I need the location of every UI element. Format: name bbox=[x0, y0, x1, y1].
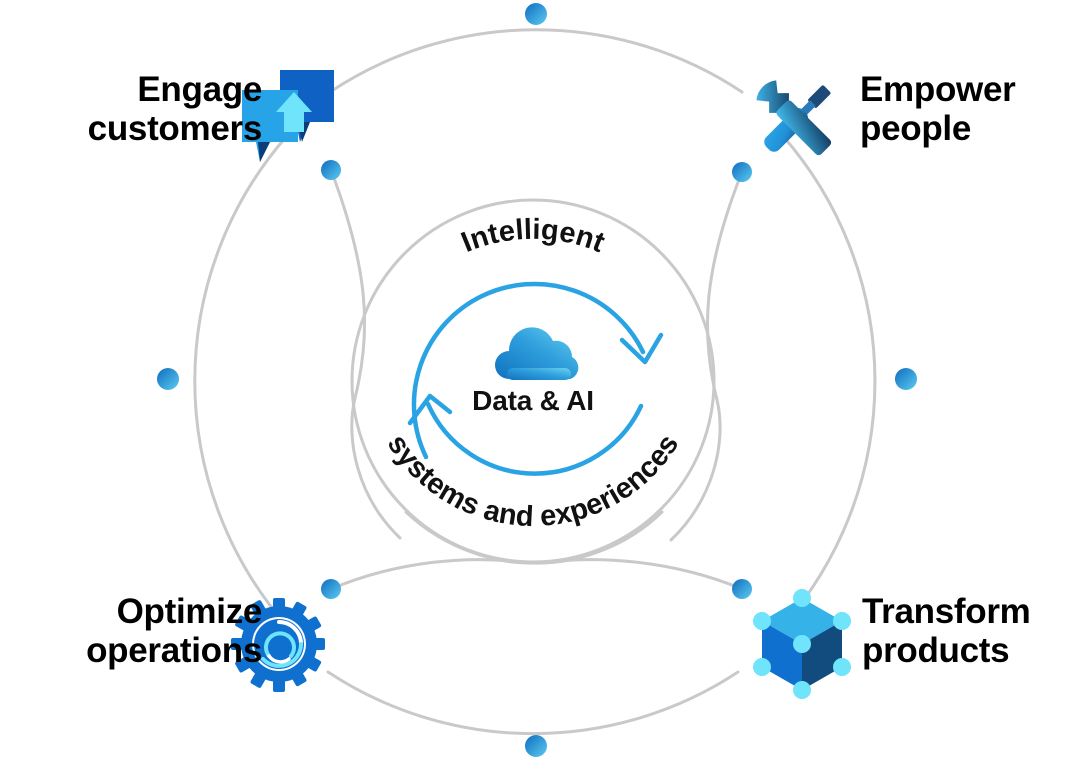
node-label-optimize-operations[interactable]: Optimize operations bbox=[22, 592, 262, 670]
node-label-transform-products[interactable]: Transform products bbox=[862, 592, 1066, 670]
outer-arc-left bbox=[195, 137, 286, 625]
outer-arc-right bbox=[782, 135, 875, 627]
spiral-engage bbox=[331, 170, 400, 538]
ring-dot-right bbox=[895, 368, 917, 390]
diagram-canvas: Intelligent systems and experiences bbox=[0, 0, 1066, 762]
ring-dot-left bbox=[157, 368, 179, 390]
center-data-ai-label: Data & AI bbox=[433, 385, 633, 417]
connector-dot-empower bbox=[732, 162, 752, 182]
connector-dot-optimize bbox=[321, 579, 341, 599]
connector-dot-engage bbox=[321, 160, 341, 180]
center-ring-text-bottom: systems and experiences bbox=[381, 429, 685, 533]
ring-dot-bottom bbox=[525, 735, 547, 757]
node-label-engage-customers[interactable]: Engage customers bbox=[52, 70, 262, 148]
cube-nodes-icon bbox=[753, 589, 851, 699]
ring-dot-top bbox=[525, 3, 547, 25]
cloud-icon bbox=[495, 327, 578, 380]
center-ring-text-top: Intelligent bbox=[457, 214, 609, 259]
outer-arc-bottom bbox=[328, 672, 738, 734]
node-label-empower-people[interactable]: Empower people bbox=[860, 70, 1066, 148]
outer-arc-top bbox=[330, 30, 742, 92]
connector-dot-transform bbox=[732, 579, 752, 599]
